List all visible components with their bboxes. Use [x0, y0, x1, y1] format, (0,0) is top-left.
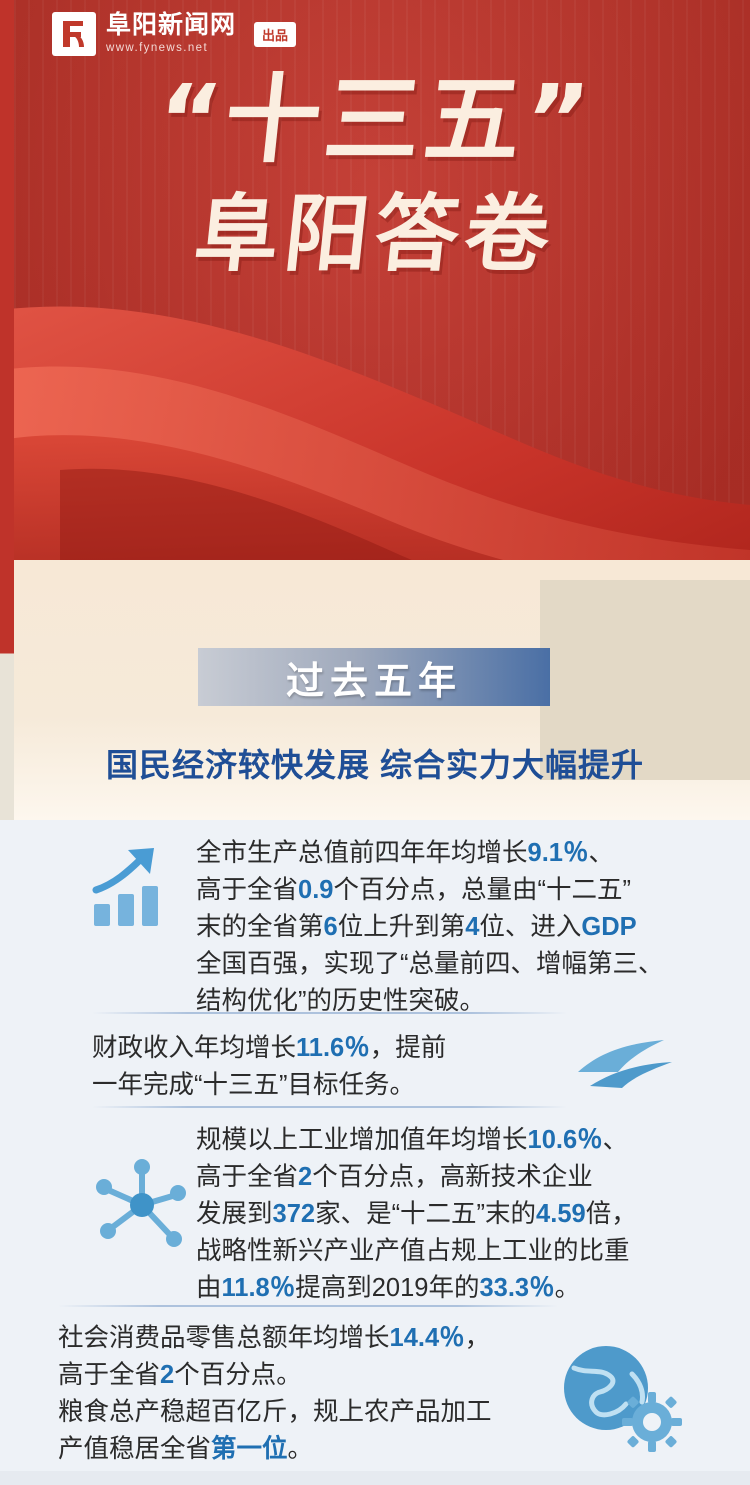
stat-line: 全市生产总值前四年年均增长9.1％、 — [196, 835, 736, 872]
stat-block-industry: 规模以上工业增加值年均增长10.6％、 高于全省2个百分点，高新技术企业 发展到… — [196, 1122, 741, 1307]
growth-arrow-chart-icon — [88, 842, 180, 934]
stat-line: 结构优化”的历史性突破。 — [196, 983, 736, 1020]
stat-line: 高于全省0.9个百分点，总量由“十二五” — [196, 872, 736, 909]
divider-2 — [92, 1106, 567, 1108]
stat-line: 一年完成“十三五”目标任务。 — [92, 1067, 562, 1104]
stat-line: 产值稳居全省第一位。 — [58, 1431, 548, 1468]
section-subtitle: 国民经济较快发展 综合实力大幅提升 — [0, 740, 750, 786]
stat-block-fiscal: 财政收入年均增长11.6％，提前 一年完成“十三五”目标任务。 — [92, 1030, 562, 1104]
hero-title: “十三五” 阜阳答卷 — [0, 60, 750, 285]
logo-website-url: www.fynews.net — [106, 43, 236, 55]
molecule-network-icon — [92, 1155, 192, 1255]
section-tag: 过去五年 — [198, 648, 550, 706]
logo-text-group: 阜阳新闻网 www.fynews.net — [106, 13, 236, 55]
stat-line: 发展到372家、是“十二五”末的4.59倍， — [196, 1196, 741, 1233]
hero-title-line-1: “十三五” — [0, 60, 750, 180]
hero-title-line-2: 阜阳答卷 — [0, 184, 750, 285]
logo-chinese-name: 阜阳新闻网 — [106, 13, 236, 38]
stat-block-gdp: 全市生产总值前四年年均增长9.1％、 高于全省0.9个百分点，总量由“十二五” … — [196, 835, 736, 1020]
stat-line: 全国百强，实现了“总量前四、增幅第三、 — [196, 946, 736, 983]
divider-1 — [92, 1012, 567, 1014]
infographic-page: 阜阳新闻网 www.fynews.net 出品 “十三五” 阜阳答卷 — [0, 0, 750, 1485]
hand-ribbon-icon — [572, 1032, 682, 1098]
stat-line: 由11.8％提高到2019年的33.3％。 — [196, 1270, 741, 1307]
site-logo[interactable]: 阜阳新闻网 www.fynews.net 出品 — [52, 12, 296, 56]
stat-line: 规模以上工业增加值年均增长10.6％、 — [196, 1122, 741, 1159]
stat-line: 高于全省2个百分点。 — [58, 1357, 548, 1394]
section-tag-label: 过去五年 — [286, 650, 462, 705]
stat-line: 高于全省2个百分点，高新技术企业 — [196, 1159, 741, 1196]
stat-block-consumption: 社会消费品零售总额年均增长14.4％， 高于全省2个百分点。 粮食总产稳超百亿斤… — [58, 1320, 548, 1468]
stat-line: 战略性新兴产业产值占规上工业的比重 — [196, 1233, 741, 1270]
logo-badge: 出品 — [254, 22, 296, 47]
stat-line: 粮食总产稳超百亿斤，规上农产品加工 — [58, 1394, 548, 1431]
stat-line: 社会消费品零售总额年均增长14.4％， — [58, 1320, 548, 1357]
divider-3 — [58, 1305, 558, 1307]
stat-line: 财政收入年均增长11.6％，提前 — [92, 1030, 562, 1067]
globe-gear-icon — [548, 1340, 698, 1470]
fy-logo-icon — [52, 12, 96, 56]
hero-banner: 阜阳新闻网 www.fynews.net 出品 “十三五” 阜阳答卷 — [0, 0, 750, 640]
stat-line: 末的全省第6位上升到第4位、进入GDP — [196, 909, 736, 946]
